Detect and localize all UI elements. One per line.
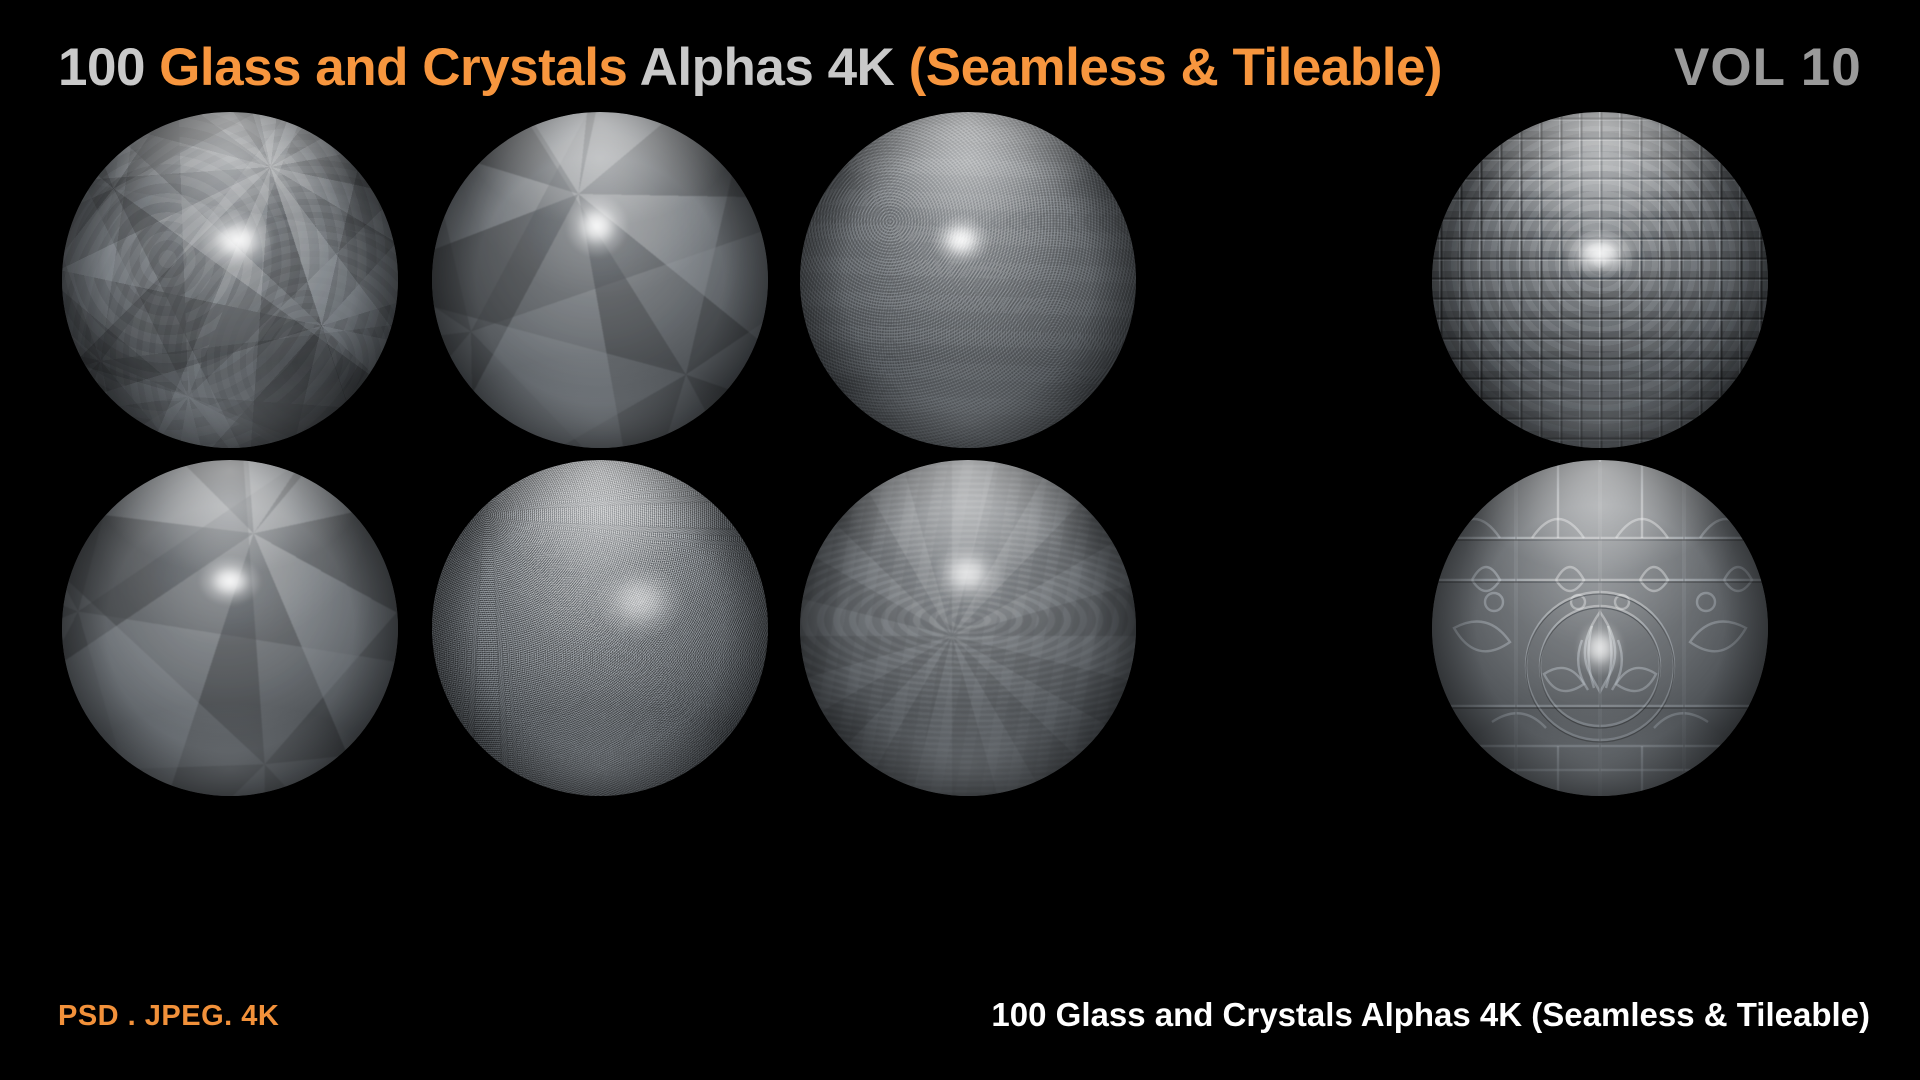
sphere-surface bbox=[62, 112, 398, 448]
sphere-surface bbox=[800, 460, 1136, 796]
sphere-bounce-light bbox=[432, 460, 768, 796]
sphere-surface bbox=[62, 460, 398, 796]
sphere-bounce-light bbox=[62, 460, 398, 796]
sphere-surface bbox=[432, 112, 768, 448]
file-formats-label: PSD . JPEG. 4K bbox=[58, 1000, 279, 1033]
sphere-bounce-light bbox=[1432, 460, 1768, 796]
sphere-preview-r1c2[interactable] bbox=[432, 112, 768, 448]
sphere-surface bbox=[1432, 112, 1768, 448]
sphere-preview-r1c3[interactable] bbox=[800, 112, 1136, 448]
sphere-bounce-light bbox=[800, 112, 1136, 448]
sphere-preview-r2c2[interactable] bbox=[432, 460, 768, 796]
sphere-bounce-light bbox=[1432, 112, 1768, 448]
sphere-surface bbox=[432, 460, 768, 796]
sphere-preview-r2c3[interactable] bbox=[800, 460, 1136, 796]
sphere-gallery-grid bbox=[0, 0, 1920, 1080]
sphere-preview-r2c1[interactable] bbox=[62, 460, 398, 796]
product-name-label: 100 Glass and Crystals Alphas 4K (Seamle… bbox=[991, 996, 1870, 1034]
sphere-preview-r2c4[interactable] bbox=[1432, 460, 1768, 796]
sphere-preview-r1c1[interactable] bbox=[62, 112, 398, 448]
sphere-surface bbox=[1432, 460, 1768, 796]
sphere-bounce-light bbox=[800, 460, 1136, 796]
sphere-bounce-light bbox=[432, 112, 768, 448]
sphere-preview-r1c4[interactable] bbox=[1432, 112, 1768, 448]
sphere-bounce-light bbox=[62, 112, 398, 448]
sphere-surface bbox=[800, 112, 1136, 448]
